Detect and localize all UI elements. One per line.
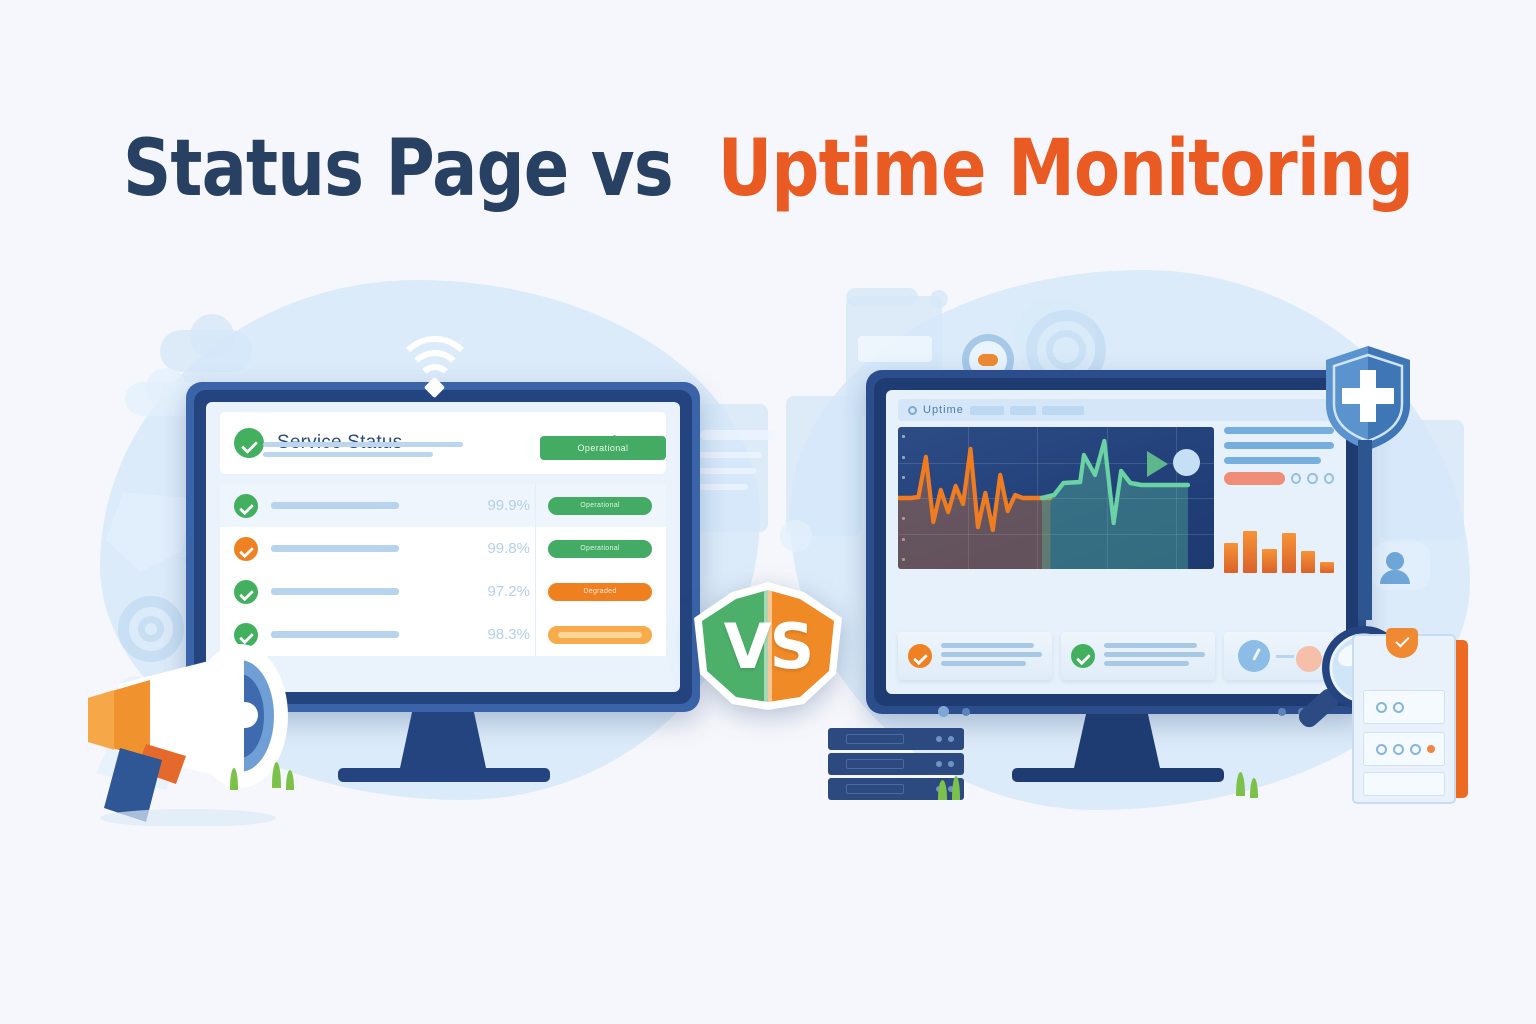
play-icon[interactable] xyxy=(1147,451,1168,477)
status-circle-icon xyxy=(1393,702,1404,713)
monitor-led-icon xyxy=(962,708,970,716)
row-check-icon xyxy=(234,494,258,518)
row-status-badge: Operational xyxy=(548,497,652,515)
panel-body xyxy=(1352,634,1456,804)
chart-traces xyxy=(898,427,1214,569)
card-line xyxy=(941,652,1042,657)
decor-cloud-bubble xyxy=(190,314,234,358)
row-divider xyxy=(535,484,536,527)
bar xyxy=(1243,531,1257,573)
gauge-icon xyxy=(1238,640,1270,672)
row-divider xyxy=(535,527,536,570)
card-lines xyxy=(941,643,1042,670)
decor-pill-top xyxy=(846,288,918,306)
table-row[interactable]: 99.9% Operational xyxy=(220,484,666,527)
table-row[interactable]: 97.2% Degraded xyxy=(220,570,666,613)
panel-row[interactable] xyxy=(1363,772,1445,796)
row-divider xyxy=(535,570,536,613)
chart-marker-dot xyxy=(1173,449,1200,476)
title-part-accent: Uptime Monitoring xyxy=(718,124,1413,214)
monitor-led-icon xyxy=(938,706,949,717)
call-icon xyxy=(1296,646,1322,672)
monitor-base-right xyxy=(1012,768,1224,782)
bar xyxy=(1282,533,1296,573)
decor-dot-top xyxy=(930,290,948,308)
header-line-1 xyxy=(263,442,463,447)
megaphone-icon xyxy=(58,636,328,826)
sidebar-line xyxy=(1224,457,1321,464)
status-circle-icon xyxy=(1324,473,1334,484)
shield-plus-icon xyxy=(1322,344,1414,452)
row-uptime-value: 97.2% xyxy=(487,583,530,600)
decor-line-top-right xyxy=(858,336,932,362)
monitor-neck-right xyxy=(1074,714,1160,768)
status-circle-icon xyxy=(1393,744,1404,755)
green-check-icon xyxy=(1071,644,1095,668)
vs-label: VS xyxy=(686,578,850,714)
decor-bubble-mid xyxy=(780,520,812,552)
status-cards xyxy=(898,632,1334,680)
monitor-led-icon xyxy=(1278,708,1286,716)
header-line-2 xyxy=(263,452,433,457)
status-dot-icon xyxy=(908,406,917,415)
status-circle-icon xyxy=(1376,702,1387,713)
shield-pole xyxy=(1358,440,1372,620)
card-line xyxy=(941,661,1026,666)
row-label-line xyxy=(271,502,399,509)
monitor-neck-left xyxy=(400,712,486,768)
sidebar-line xyxy=(1224,442,1334,449)
status-circle-icon xyxy=(1307,473,1317,484)
status-circle-icon xyxy=(1376,744,1387,755)
row-uptime-value: 98.3% xyxy=(487,626,530,643)
header-check-icon xyxy=(234,428,264,458)
header-status-badge: Operational xyxy=(540,436,666,460)
row-progress-bar xyxy=(548,626,652,644)
bar xyxy=(1320,562,1334,573)
bar xyxy=(1262,549,1276,573)
row-status-badge: Operational xyxy=(548,540,652,558)
monitor-base-left xyxy=(338,768,550,782)
bar xyxy=(1224,543,1238,573)
uptime-line-chart xyxy=(898,427,1214,569)
topbar-segment xyxy=(970,406,1004,415)
illustration-canvas: Status Page vs Uptime Monitoring xyxy=(0,0,1536,1024)
dashboard-title: Uptime xyxy=(923,404,964,416)
dashboard-sidebar xyxy=(1224,427,1334,485)
card-line xyxy=(1104,661,1189,666)
page-title: Status Page vs Uptime Monitoring xyxy=(108,124,1429,214)
sidebar-alert-pill xyxy=(1224,472,1285,485)
status-card[interactable] xyxy=(1061,632,1215,680)
status-dot-alert-icon xyxy=(1427,745,1435,753)
table-row[interactable]: 99.8% Operational xyxy=(220,527,666,570)
server-panel-stack xyxy=(1352,634,1468,804)
decor-panel-mid-f xyxy=(786,396,862,536)
gauge-connector xyxy=(1276,655,1294,658)
row-uptime-value: 99.8% xyxy=(487,540,530,557)
row-check-icon xyxy=(234,537,258,561)
card-line xyxy=(1104,652,1205,657)
panel-row[interactable] xyxy=(1363,732,1445,766)
status-circle-icon xyxy=(1410,744,1421,755)
vs-badge: VS xyxy=(686,578,850,714)
server-unit xyxy=(828,753,964,775)
status-circle-icon xyxy=(1291,473,1301,484)
decor-bubble-a xyxy=(146,368,186,408)
row-label-line xyxy=(271,545,399,552)
user-avatar-icon xyxy=(1386,552,1404,570)
card-line xyxy=(941,643,1034,648)
sidebar-line xyxy=(1224,427,1334,434)
sidebar-status-row xyxy=(1224,472,1334,485)
title-part-dark: Status Page vs xyxy=(123,124,673,214)
row-divider xyxy=(535,613,536,656)
bar xyxy=(1301,551,1315,573)
decor-gear-teeth xyxy=(1014,298,1096,380)
card-line xyxy=(1104,643,1197,648)
server-unit xyxy=(828,728,964,750)
row-status-badge: Degraded xyxy=(548,583,652,601)
wifi-icon xyxy=(392,336,478,398)
decor-panel-mid-b xyxy=(700,430,776,440)
panel-status-check-icon xyxy=(1386,628,1418,658)
dashboard-body xyxy=(898,427,1334,684)
panel-row[interactable] xyxy=(1363,690,1445,724)
header-text-lines xyxy=(263,442,463,462)
status-card[interactable] xyxy=(898,632,1052,680)
monitor-screen-right: Uptime xyxy=(886,390,1346,694)
row-uptime-value: 99.9% xyxy=(487,497,530,514)
row-check-icon xyxy=(234,580,258,604)
topbar-segment xyxy=(1010,406,1036,415)
orange-check-icon xyxy=(908,644,932,668)
row-label-line xyxy=(271,588,399,595)
dashboard-topbar: Uptime xyxy=(898,399,1334,421)
uptime-bar-chart xyxy=(1224,519,1334,573)
topbar-segment xyxy=(1042,406,1084,415)
card-lines xyxy=(1104,643,1205,670)
